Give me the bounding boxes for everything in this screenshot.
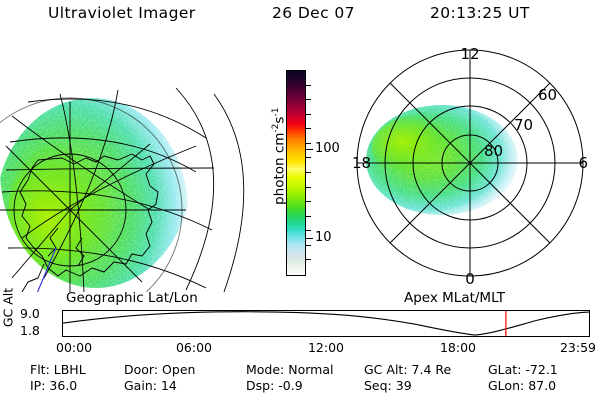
colorbar-major-tick	[305, 149, 313, 150]
colorbar-minor-tick	[305, 187, 311, 188]
colorbar-minor-tick	[305, 128, 311, 129]
observation-date: 26 Dec 07	[272, 4, 355, 22]
status-glon-label: GLon:	[488, 378, 524, 393]
colorbar-minor-tick	[305, 143, 311, 144]
colorbar-gradient	[287, 71, 305, 275]
status-mode-value: Normal	[288, 362, 333, 377]
status-glat: GLat: -72.1	[488, 362, 558, 377]
status-filter-label: Flt:	[30, 362, 50, 377]
apex-mlat-label-80: 80	[484, 142, 503, 160]
uv-imager-display: Ultraviolet Imager 26 Dec 07 20:13:25 UT	[0, 0, 600, 400]
colorbar-minor-tick	[305, 172, 311, 173]
altitude-ylabel: GC Alt	[1, 280, 16, 336]
status-mode-label: Mode:	[246, 362, 284, 377]
altitude-panel: GC Alt 9.0 1.8 00:0006:0012:0018:0023:59	[0, 306, 600, 356]
status-glat-label: GLat:	[488, 362, 521, 377]
colorbar-minor-tick	[305, 230, 311, 231]
status-glat-value: -72.1	[525, 362, 557, 377]
status-ip: IP: 36.0	[30, 378, 77, 393]
spacecraft-altitude-curve	[63, 312, 589, 335]
apex-plot: 12 0 18 6 60 70 80	[352, 44, 592, 286]
status-glon: GLon: 87.0	[488, 378, 556, 393]
altitude-xtick-label: 18:00	[440, 340, 476, 355]
status-gain-label: Gain:	[124, 378, 157, 393]
altitude-xtick-label: 12:00	[308, 340, 344, 355]
status-ip-label: IP:	[30, 378, 45, 393]
status-dsp: Dsp: -0.9	[246, 378, 303, 393]
apex-plot-svg: 12 0 18 6 60 70 80	[352, 44, 592, 286]
status-filter: Flt: LBHL	[30, 362, 86, 377]
altitude-xtick-label: 00:00	[56, 340, 92, 355]
apex-mlat-label-60: 60	[538, 86, 557, 104]
status-gcalt-value: 7.4 Re	[412, 362, 452, 377]
altitude-curve-svg	[63, 311, 589, 336]
status-gain: Gain: 14	[124, 378, 177, 393]
colorbar-minor-tick	[305, 201, 311, 202]
apex-mlt-label-6: 6	[578, 154, 588, 172]
status-gcalt: GC Alt: 7.4 Re	[364, 362, 451, 377]
colorbar-major-tick	[305, 238, 313, 239]
colorbar-minor-tick	[305, 99, 311, 100]
altitude-plot-box	[62, 310, 590, 337]
status-glon-value: 87.0	[528, 378, 556, 393]
status-seq-value: 39	[396, 378, 412, 393]
observation-time: 20:13:25 UT	[430, 4, 530, 22]
colorbar-title-main: photon cm	[271, 133, 287, 205]
geographic-plot-label: Geographic Lat/Lon	[66, 290, 198, 306]
status-gcalt-label: GC Alt:	[364, 362, 408, 377]
status-seq-label: Seq:	[364, 378, 392, 393]
geographic-plot-svg	[0, 42, 256, 292]
colorbar-title-exp1: -2	[271, 124, 281, 133]
status-filter-value: LBHL	[54, 362, 86, 377]
colorbar-tick-label: 10	[315, 231, 332, 244]
colorbar-minor-tick	[305, 245, 311, 246]
colorbar: photon cm-2s-1 10010	[258, 62, 350, 287]
apex-plot-label: Apex MLat/MLT	[404, 290, 505, 306]
status-dsp-value: -0.9	[278, 378, 302, 393]
colorbar-minor-tick	[305, 114, 311, 115]
apex-mlt-label-18: 18	[352, 154, 371, 172]
aurora-emission-geo	[0, 98, 188, 292]
status-door-label: Door:	[124, 362, 158, 377]
colorbar-minor-tick	[305, 157, 311, 158]
instrument-title: Ultraviolet Imager	[48, 4, 196, 22]
colorbar-title-exp2: -1	[271, 108, 281, 117]
apex-mlat-label-70: 70	[514, 116, 533, 134]
altitude-xtick-label: 06:00	[176, 340, 212, 355]
header-bar: Ultraviolet Imager 26 Dec 07 20:13:25 UT	[0, 4, 600, 30]
colorbar-minor-tick	[305, 216, 311, 217]
colorbar-gradient-box	[286, 70, 306, 276]
status-dsp-label: Dsp:	[246, 378, 274, 393]
status-mode: Mode: Normal	[246, 362, 334, 377]
colorbar-title: photon cm-2s-1	[271, 61, 288, 251]
status-seq: Seq: 39	[364, 378, 412, 393]
status-ip-value: 36.0	[49, 378, 77, 393]
status-bar: Flt: LBHL IP: 36.0 Door: Open Gain: 14 M…	[0, 362, 600, 398]
altitude-xtick-label: 23:59	[560, 340, 596, 355]
status-door-value: Open	[162, 362, 195, 377]
colorbar-minor-tick	[305, 259, 311, 260]
apex-mlt-label-0: 0	[465, 270, 475, 286]
colorbar-minor-tick	[305, 85, 311, 86]
colorbar-title-mid: s	[271, 117, 287, 124]
apex-mlt-spokes	[357, 50, 583, 276]
apex-mlt-label-12: 12	[460, 45, 479, 63]
status-gain-value: 14	[161, 378, 177, 393]
status-door: Door: Open	[124, 362, 195, 377]
colorbar-tick-label: 100	[315, 142, 340, 155]
geographic-plot	[0, 42, 256, 292]
